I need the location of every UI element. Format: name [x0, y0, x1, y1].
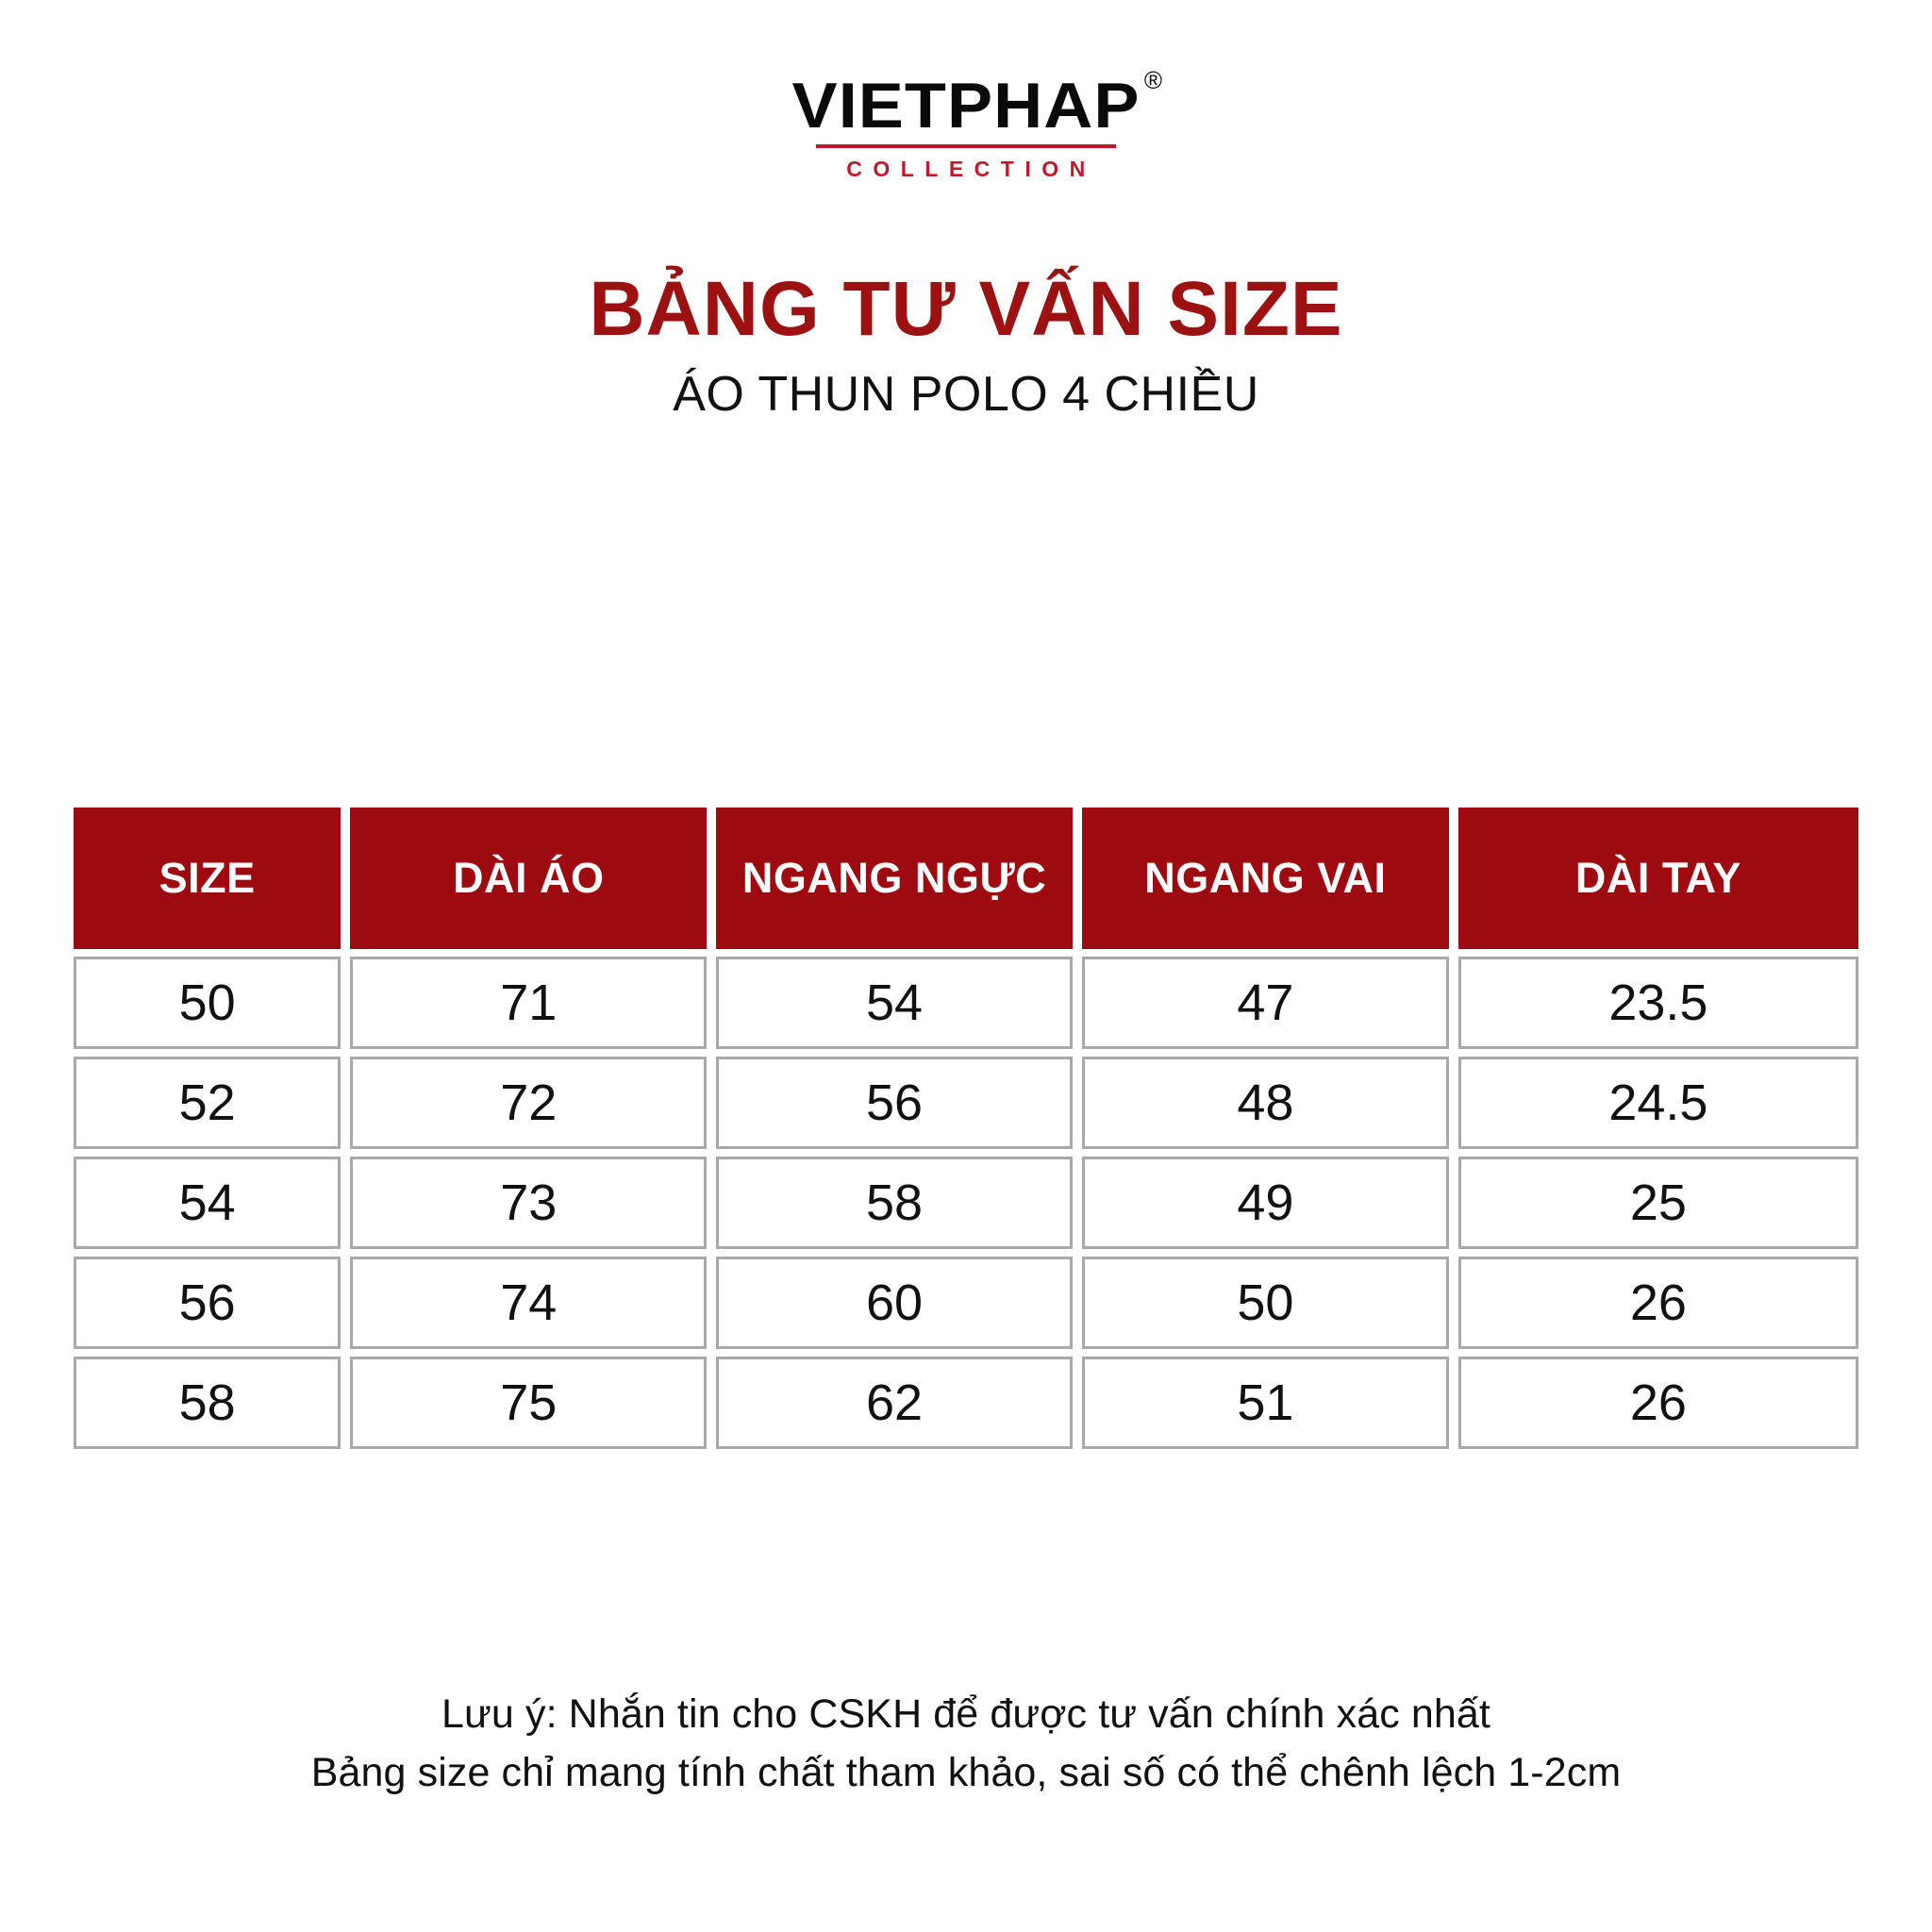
brand-wordmark-row: VIETPHAP ® COLLECTION	[802, 74, 1130, 182]
cell-ngang-vai: 50	[1082, 1257, 1449, 1349]
brand-tagline: COLLECTION	[802, 157, 1130, 182]
cell-dai-ao: 73	[350, 1157, 707, 1249]
brand-wordmark: VIETPHAP	[792, 74, 1141, 138]
table-row: 54 73 58 49 25	[74, 1157, 1858, 1249]
size-table-head: SIZE DÀI ÁO NGANG NGỰC NGANG VAI DÀI TAY	[74, 808, 1858, 949]
size-table: SIZE DÀI ÁO NGANG NGỰC NGANG VAI DÀI TAY…	[64, 800, 1868, 1457]
footer-notes: Lưu ý: Nhắn tin cho CSKH để được tư vấn …	[0, 1685, 1932, 1803]
cell-dai-ao: 75	[350, 1357, 707, 1449]
cell-ngang-nguc: 62	[716, 1357, 1073, 1449]
size-chart-page: VIETPHAP ® COLLECTION BẢNG TƯ VẤN SIZE Á…	[0, 0, 1932, 1932]
cell-ngang-vai: 47	[1082, 957, 1449, 1049]
cell-dai-ao: 71	[350, 957, 707, 1049]
column-header-ngang-vai: NGANG VAI	[1082, 808, 1449, 949]
page-subtitle: ÁO THUN POLO 4 CHIỀU	[0, 368, 1932, 422]
cell-ngang-nguc: 60	[716, 1257, 1073, 1349]
column-header-size: SIZE	[74, 808, 341, 949]
page-title: BẢNG TƯ VẤN SIZE	[0, 269, 1932, 350]
footer-note-line-2: Bảng size chỉ mang tính chất tham khảo, …	[0, 1743, 1932, 1802]
cell-size: 52	[74, 1057, 341, 1149]
table-row: 58 75 62 51 26	[74, 1357, 1858, 1449]
cell-size: 56	[74, 1257, 341, 1349]
cell-dai-ao: 74	[350, 1257, 707, 1349]
footer-note-line-1: Lưu ý: Nhắn tin cho CSKH để được tư vấn …	[0, 1685, 1932, 1743]
column-header-dai-ao: DÀI ÁO	[350, 808, 707, 949]
cell-ngang-vai: 51	[1082, 1357, 1449, 1449]
brand-logo: VIETPHAP ® COLLECTION	[0, 74, 1932, 182]
size-table-body: 50 71 54 47 23.5 52 72 56 48 24.5 54 73 …	[74, 957, 1858, 1449]
cell-size: 50	[74, 957, 341, 1049]
cell-ngang-vai: 48	[1082, 1057, 1449, 1149]
cell-ngang-nguc: 56	[716, 1057, 1073, 1149]
cell-ngang-nguc: 54	[716, 957, 1073, 1049]
cell-dai-tay: 26	[1458, 1257, 1858, 1349]
table-header-row: SIZE DÀI ÁO NGANG NGỰC NGANG VAI DÀI TAY	[74, 808, 1858, 949]
brand-divider-rule	[816, 144, 1116, 148]
cell-size: 54	[74, 1157, 341, 1249]
table-row: 50 71 54 47 23.5	[74, 957, 1858, 1049]
table-row: 56 74 60 50 26	[74, 1257, 1858, 1349]
cell-ngang-nguc: 58	[716, 1157, 1073, 1249]
cell-ngang-vai: 49	[1082, 1157, 1449, 1249]
cell-dai-tay: 24.5	[1458, 1057, 1858, 1149]
registered-trademark-icon: ®	[1144, 68, 1162, 92]
cell-dai-ao: 72	[350, 1057, 707, 1149]
cell-dai-tay: 25	[1458, 1157, 1858, 1249]
cell-dai-tay: 26	[1458, 1357, 1858, 1449]
cell-dai-tay: 23.5	[1458, 957, 1858, 1049]
size-table-container: SIZE DÀI ÁO NGANG NGỰC NGANG VAI DÀI TAY…	[64, 800, 1868, 1457]
column-header-ngang-nguc: NGANG NGỰC	[716, 808, 1073, 949]
column-header-dai-tay: DÀI TAY	[1458, 808, 1858, 949]
table-row: 52 72 56 48 24.5	[74, 1057, 1858, 1149]
cell-size: 58	[74, 1357, 341, 1449]
